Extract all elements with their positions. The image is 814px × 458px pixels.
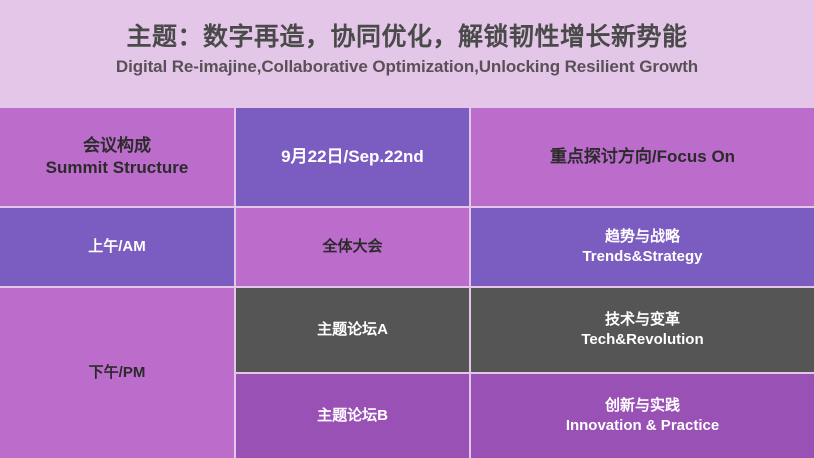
row-pm-period-label: 下午/PM: [89, 363, 146, 383]
agenda-table: 会议构成 Summit Structure 9月22日/Sep.22nd 重点探…: [0, 108, 814, 458]
row-am-period-label: 上午/AM: [88, 237, 146, 257]
table-row: 主题论坛A 技术与变革 Tech&Revolution: [236, 288, 814, 374]
row-forum-b-topic: 创新与实践 Innovation & Practice: [471, 374, 814, 458]
header-cell-date: 9月22日/Sep.22nd: [236, 108, 471, 208]
row-forum-b-topic-en: Innovation & Practice: [566, 416, 719, 436]
title-block: 主题：数字再造，协同优化，解锁韧性增长新势能 Digital Re-imajin…: [0, 0, 814, 108]
row-am-topic-cn: 趋势与战略: [582, 227, 702, 247]
row-forum-b-session: 主题论坛B: [236, 374, 471, 458]
row-am-session: 全体大会: [236, 208, 471, 288]
page-subtitle: Digital Re-imajine,Collaborative Optimiz…: [0, 56, 814, 79]
row-am-period: 上午/AM: [0, 208, 236, 288]
page-title: 主题：数字再造，协同优化，解锁韧性增长新势能: [0, 22, 814, 53]
table-row-pm-group: 下午/PM 主题论坛A 技术与变革 Tech&Revolution: [0, 288, 814, 458]
pm-subrows: 主题论坛A 技术与变革 Tech&Revolution 主题论坛B: [236, 288, 814, 458]
header-structure-en: Summit Structure: [46, 157, 189, 179]
table-header-row: 会议构成 Summit Structure 9月22日/Sep.22nd 重点探…: [0, 108, 814, 208]
row-am-topic-en: Trends&Strategy: [582, 247, 702, 267]
row-pm-period: 下午/PM: [0, 288, 236, 458]
header-date-label: 9月22日/Sep.22nd: [281, 146, 424, 168]
row-forum-b-session-label: 主题论坛B: [317, 406, 388, 426]
row-forum-a-session-label: 主题论坛A: [317, 320, 388, 340]
header-focus-label: 重点探讨方向/Focus On: [550, 146, 735, 168]
header-cell-structure: 会议构成 Summit Structure: [0, 108, 236, 208]
table-row: 上午/AM 全体大会 趋势与战略 Trends&Strategy: [0, 208, 814, 288]
header-cell-focus: 重点探讨方向/Focus On: [471, 108, 814, 208]
header-structure-cn: 会议构成: [46, 135, 189, 157]
row-forum-a-topic: 技术与变革 Tech&Revolution: [471, 288, 814, 372]
table-row: 主题论坛B 创新与实践 Innovation & Practice: [236, 374, 814, 458]
slide-root: 主题：数字再造，协同优化，解锁韧性增长新势能 Digital Re-imajin…: [0, 0, 814, 458]
row-forum-b-topic-cn: 创新与实践: [566, 396, 719, 416]
row-forum-a-session: 主题论坛A: [236, 288, 471, 372]
row-forum-a-topic-en: Tech&Revolution: [581, 330, 703, 350]
row-am-session-label: 全体大会: [322, 237, 382, 257]
row-am-topic: 趋势与战略 Trends&Strategy: [471, 208, 814, 288]
row-forum-a-topic-cn: 技术与变革: [581, 310, 703, 330]
